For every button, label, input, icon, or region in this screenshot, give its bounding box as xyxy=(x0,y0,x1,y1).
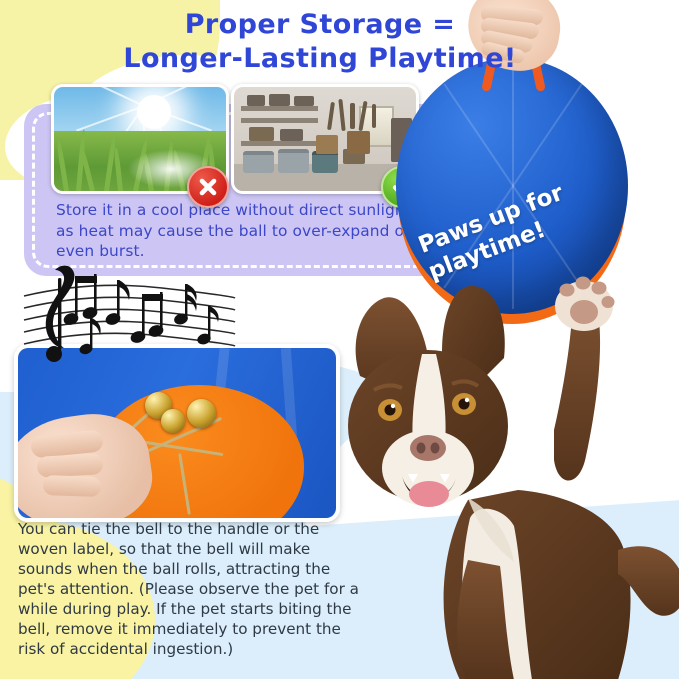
cross-icon xyxy=(187,166,229,208)
page-title: Proper Storage = Longer-Lasting Playtime… xyxy=(100,8,540,76)
music-notes-icon xyxy=(22,258,237,370)
page-title-line-2: Longer-Lasting Playtime! xyxy=(100,42,540,76)
page-title-line-1: Proper Storage = xyxy=(100,8,540,42)
bell-3 xyxy=(187,399,216,428)
bell-instruction-text: You can tie the bell to the handle or th… xyxy=(18,519,366,659)
bell-tying-photo xyxy=(14,344,340,522)
dog-photo xyxy=(318,250,679,679)
product-infographic: Proper Storage = Longer-Lasting Playtime… xyxy=(0,0,679,679)
